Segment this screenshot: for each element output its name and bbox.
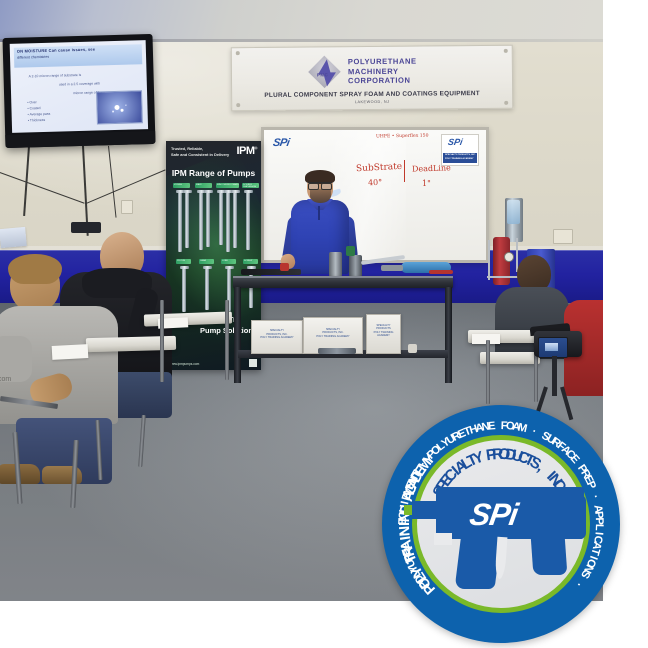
wall-outlet xyxy=(553,229,573,244)
chair-leg xyxy=(225,300,229,380)
case-label: SPECIALTY PRODUCTS, INC. POLY TRAINING A… xyxy=(308,328,358,338)
gun-notch xyxy=(434,533,452,545)
gun-nozzle xyxy=(381,265,403,271)
ipm-pump-label: DOUBLE DIAPHRAGM xyxy=(242,183,259,188)
case-label-line3: ACADEMY xyxy=(377,334,390,337)
spi-poly-training-academy-seal: POLYUREA · EQUIPMENT · POLYURETHANE FOAM… xyxy=(382,405,620,643)
slide-image xyxy=(96,90,143,124)
ipm-pump-label: SCREW xyxy=(243,259,258,264)
pmc-city: LAKEWOOD, NJ xyxy=(232,99,512,105)
demo-cylinder xyxy=(349,255,362,277)
pump-head xyxy=(204,190,213,193)
pump-illustration xyxy=(246,190,250,250)
chair-leg xyxy=(486,340,490,404)
slide-bullet: • Average pass xyxy=(28,112,51,117)
display-screen: ON MOISTURE Can cause issues, see differ… xyxy=(10,40,148,133)
slide-bullet: used in a 2.5 coverage with xyxy=(59,81,100,86)
pump-illustration xyxy=(219,190,223,245)
spi-card-line1: SPECIALTY PRODUCTS, INC. xyxy=(445,154,476,156)
instructor-beard xyxy=(310,189,331,203)
whiteboard-note-right-title: DeadLine xyxy=(412,163,451,173)
ipm-logo: IPM® xyxy=(236,145,257,157)
ipm-pump-label: MAXI xyxy=(195,183,212,188)
ipm-tagline: Trusted, Reliable, Safe and Consistent i… xyxy=(171,146,229,158)
gun-rear-grip xyxy=(531,535,568,575)
spi-card-line2: POLY TRAINING ACADEMY xyxy=(445,158,473,160)
student-shirt-text: .com xyxy=(0,376,11,383)
bench-small-parts xyxy=(318,348,356,354)
demo-cylinder xyxy=(329,252,342,277)
gun-trigger xyxy=(495,537,508,580)
ipm-pump-label: GEAR xyxy=(199,259,214,264)
ipm-pump-label-text: MINI / MICRO / NANO xyxy=(217,184,239,186)
bench-top xyxy=(233,276,453,288)
pump-head xyxy=(231,190,240,193)
ipm-pump-label: HYDRA xyxy=(173,183,190,188)
pmc-name-line3: CORPORATION xyxy=(348,76,417,86)
instructor-placket xyxy=(318,206,320,220)
gun-rear-body xyxy=(530,495,586,539)
slide-bullet: • Thickness xyxy=(28,118,45,122)
ipm-title: IPM Range of Pumps xyxy=(166,168,261,178)
bench-leg xyxy=(234,287,241,383)
pump-illustration xyxy=(226,190,230,252)
ipm-pump-label: LOBE xyxy=(221,259,236,264)
demo-mixer xyxy=(346,246,355,256)
spi-card-band: SPECIALTY PRODUCTS, INC. POLY TRAINING A… xyxy=(443,153,477,163)
ipm-registered-icon: ® xyxy=(255,145,257,150)
gun-grip xyxy=(455,533,502,589)
wall-display[interactable]: ON MOISTURE Can cause issues, see differ… xyxy=(2,34,155,148)
banner-grommet xyxy=(236,51,240,55)
pump-illustration xyxy=(185,190,189,248)
slide-bullet: A 2-10 micron range of substrate is xyxy=(29,73,82,78)
instructor xyxy=(287,172,353,280)
seal-spi-wordmark: SPi xyxy=(467,497,520,533)
notebook-page xyxy=(52,344,89,360)
ipm-pump-label-text: MAXI xyxy=(196,184,201,186)
pmc-abbreviation: PMC xyxy=(317,72,328,77)
whiteboard-note-right-value: 1" xyxy=(422,179,431,188)
spi-card-text: SPECIALTY PRODUCTS, INC. POLY TRAINING A… xyxy=(445,154,476,161)
ipm-pump-label-text: PISTON xyxy=(177,260,185,262)
ipm-pump-label-text: LOBE xyxy=(222,260,228,262)
ipm-pump-label-text: GEAR xyxy=(200,260,206,262)
ipm-pump-label-text: DOUBLE DIAPHRAGM xyxy=(243,184,259,188)
case-label: SPECIALTY PRODUCTS POLY TRAINING ACADEMY xyxy=(369,324,397,338)
hand-tool xyxy=(429,270,453,274)
ipm-pump-label: PISTON xyxy=(176,259,191,264)
wall-outlet xyxy=(121,200,133,214)
pump-head xyxy=(225,266,234,269)
tripod-column xyxy=(552,356,557,396)
ipm-brand: IPM xyxy=(236,145,254,157)
pump-head xyxy=(244,190,253,193)
ipm-tagline-line2: Safe and Consistent in Delivery xyxy=(171,152,229,158)
spi-card-logo: SPi xyxy=(447,137,463,147)
pmc-name-line2: MACHINERY xyxy=(348,66,417,76)
case-label-line3: POLY TRAINING ACADEMY xyxy=(316,334,349,337)
pump-illustration xyxy=(205,266,209,310)
pump-illustration xyxy=(206,190,210,247)
pmc-tagline: PLURAL COMPONENT SPRAY FOAM AND COATINGS… xyxy=(232,90,512,99)
pmc-logo-icon: PMC xyxy=(310,57,340,87)
video-camera[interactable] xyxy=(528,325,586,365)
case-label-line1: SPECIALTY PRODUCTS xyxy=(376,324,391,330)
whiteboard-divider-line xyxy=(404,160,405,182)
banner-grommet xyxy=(504,49,508,53)
pump-illustration xyxy=(233,190,237,248)
pmc-name-line1: POLYURETHANE xyxy=(348,57,417,67)
whiteboard-spi-card: SPi SPECIALTY PRODUCTS, INC. POLY TRAINI… xyxy=(441,134,479,166)
laptop-screen xyxy=(0,227,27,248)
chair-leg xyxy=(160,300,164,382)
red-fitting xyxy=(280,263,289,271)
pump-head xyxy=(180,266,189,269)
ipm-website: www.ipmpumps.com xyxy=(170,362,199,366)
ipm-pump-label-text: HYDRA xyxy=(174,184,182,186)
slide-bullet: • Coated xyxy=(27,106,40,110)
camera-lcd-screen xyxy=(538,337,568,358)
equipment-case: SPECIALTY PRODUCTS POLY TRAINING ACADEMY xyxy=(366,314,401,354)
pmc-banner: PMC POLYURETHANE MACHINERY CORPORATION P… xyxy=(231,45,514,111)
whiteboard-spi-logo: SPi xyxy=(272,137,290,149)
case-label-line3: POLY TRAINING ACADEMY xyxy=(260,336,293,339)
sight-glass xyxy=(507,200,520,224)
whiteboard-note-left-value: 40° xyxy=(368,178,382,187)
spray-gun-icon: SPi xyxy=(412,483,590,593)
case-label: SPECIALTY PRODUCTS, INC. POLY TRAINING A… xyxy=(256,329,299,339)
pump-illustration xyxy=(199,190,203,250)
ipm-pump-label-text: SCREW xyxy=(244,260,252,262)
pump-illustration xyxy=(178,190,182,252)
pump-head xyxy=(203,266,212,269)
equipment-case: SPECIALTY PRODUCTS, INC. POLY TRAINING A… xyxy=(251,320,303,354)
ipm-pump-label: MINI / MICRO / NANO xyxy=(216,183,239,188)
eyeglasses-icon xyxy=(308,182,332,188)
bench-small-box xyxy=(408,344,417,353)
demo-workbench: SPECIALTY PRODUCTS, INC. POLY TRAINING A… xyxy=(233,276,453,384)
bench-leg xyxy=(445,287,452,383)
whiteboard-header-note: UHPE • Superflex 150 xyxy=(376,134,429,140)
screenshot-root: ON MOISTURE Can cause issues, see differ… xyxy=(0,0,648,648)
slide-bullet: • Over xyxy=(27,100,37,104)
pmc-company-name: POLYURETHANE MACHINERY CORPORATION xyxy=(348,57,417,86)
student-hair xyxy=(8,254,62,284)
spray-hose xyxy=(241,269,301,275)
pump-illustration xyxy=(182,266,186,312)
pump-head xyxy=(183,190,192,193)
equipment-pipe xyxy=(488,240,490,280)
